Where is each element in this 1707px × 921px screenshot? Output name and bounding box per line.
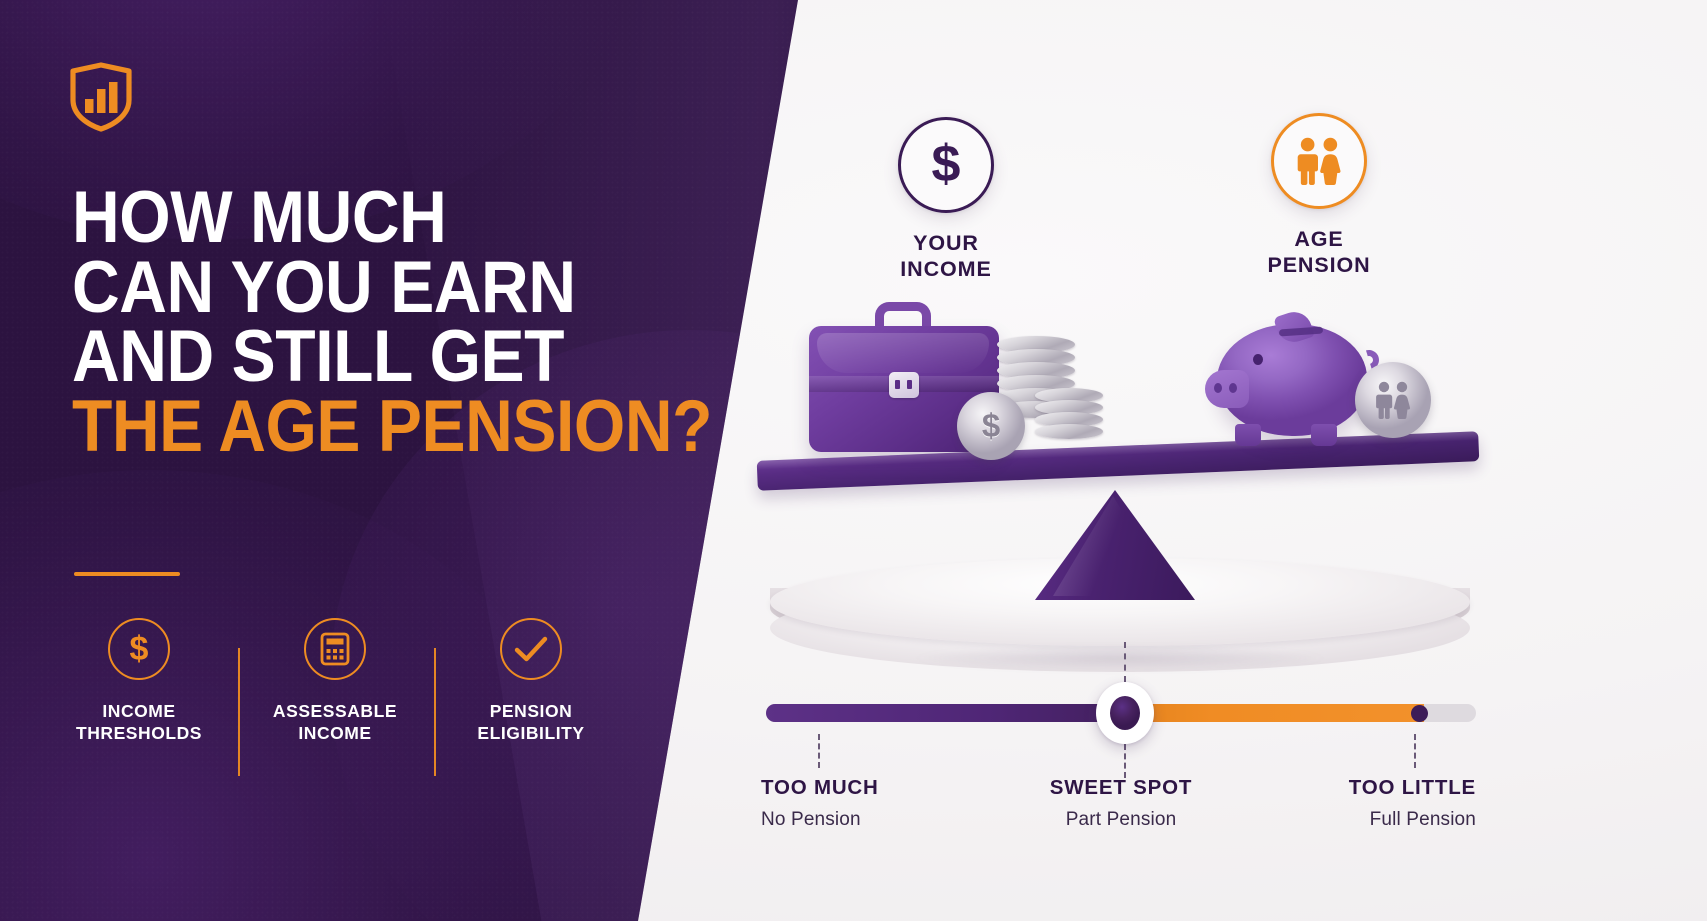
tick-dash-down-left — [818, 734, 820, 768]
piggy-leg — [1235, 424, 1261, 446]
briefcase-clasp — [889, 372, 919, 398]
svg-text:$: $ — [130, 630, 149, 668]
tick-dash-up-center — [1124, 642, 1126, 682]
piggy-snout — [1205, 370, 1249, 408]
slider-segment-sweet-spot — [1124, 704, 1424, 722]
shield-bar-chart-logo[interactable] — [68, 62, 134, 132]
slider-label-too-little: TOO LITTLE Full Pension — [1236, 776, 1476, 831]
pension-slider[interactable]: TOO MUCH No Pension SWEET SPOT Part Pens… — [766, 690, 1476, 880]
badge-circle-pension — [1271, 113, 1367, 209]
pension-people-coin — [1355, 362, 1431, 438]
feature-label: INCOME THRESHOLDS — [54, 700, 224, 745]
badge-your-income: $ YOUR INCOME — [846, 117, 1046, 282]
dollar-sign-icon: $ — [126, 630, 152, 668]
feature-circle — [304, 618, 366, 680]
slider-labels: TOO MUCH No Pension SWEET SPOT Part Pens… — [766, 776, 1476, 866]
check-mark-icon — [514, 635, 548, 663]
tick-dash-down-center — [1124, 744, 1126, 778]
dollar-sign-icon: $ — [924, 136, 968, 194]
slider-handle[interactable] — [1096, 682, 1154, 744]
slider-label-sweet-spot: SWEET SPOT Part Pension — [1001, 776, 1241, 831]
slider-label-sub: Part Pension — [1001, 809, 1241, 831]
badge-circle-income: $ — [898, 117, 994, 213]
slider-label-sub: Full Pension — [1236, 809, 1476, 831]
feature-separator — [434, 648, 436, 776]
piggy-leg — [1311, 424, 1337, 446]
headline-line-1: HOW MUCH — [72, 183, 633, 253]
feature-circle: $ — [108, 618, 170, 680]
feature-assessable-income[interactable]: ASSESSABLE INCOME — [250, 618, 420, 745]
two-people-icon — [1290, 135, 1348, 187]
headline-line-2: CAN YOU EARN — [72, 253, 633, 323]
feature-separator — [238, 648, 240, 776]
divider — [74, 572, 180, 576]
svg-text:$: $ — [932, 136, 961, 193]
feature-label: ASSESSABLE INCOME — [250, 700, 420, 745]
feature-label: PENSION ELIGIBILITY — [446, 700, 616, 745]
podium-shadow — [830, 640, 1410, 676]
badge-label-income: YOUR INCOME — [846, 230, 1046, 282]
slider-label-title: TOO MUCH — [761, 776, 1001, 800]
badge-age-pension: AGE PENSION — [1219, 113, 1419, 278]
piggy-eye — [1253, 354, 1263, 365]
shield-bar-chart-icon — [68, 62, 134, 132]
piggy-bank-icon — [1205, 304, 1405, 454]
slider-segment-too-much — [766, 704, 1124, 722]
feature-circle — [500, 618, 562, 680]
slider-label-too-much: TOO MUCH No Pension — [761, 776, 1001, 831]
infographic-canvas: $ — [0, 0, 1707, 921]
headline-line-3: AND STILL GET — [72, 322, 633, 392]
slider-end-marker — [1411, 705, 1428, 722]
dollar-coin: $ — [957, 392, 1025, 460]
tick-dash-down-right — [1414, 734, 1416, 768]
calculator-icon — [320, 632, 350, 666]
page-title: HOW MUCH CAN YOU EARN AND STILL GET THE … — [72, 183, 633, 462]
badge-label-pension: AGE PENSION — [1219, 226, 1419, 278]
slider-label-title: TOO LITTLE — [1236, 776, 1476, 800]
balance-scale-scene: $ — [735, 270, 1525, 660]
feature-pension-eligibility[interactable]: PENSION ELIGIBILITY — [446, 618, 616, 745]
slider-label-title: SWEET SPOT — [1001, 776, 1241, 800]
slider-handle-dot — [1110, 696, 1140, 730]
headline-line-4-accent: THE AGE PENSION? — [72, 392, 633, 462]
slider-label-sub: No Pension — [761, 809, 1001, 831]
two-people-icon — [1370, 380, 1416, 420]
coin-dollar-symbol: $ — [982, 407, 1000, 445]
feature-list: $ INCOME THRESHOLDS — [54, 618, 614, 808]
feature-income-thresholds[interactable]: $ INCOME THRESHOLDS — [54, 618, 224, 745]
